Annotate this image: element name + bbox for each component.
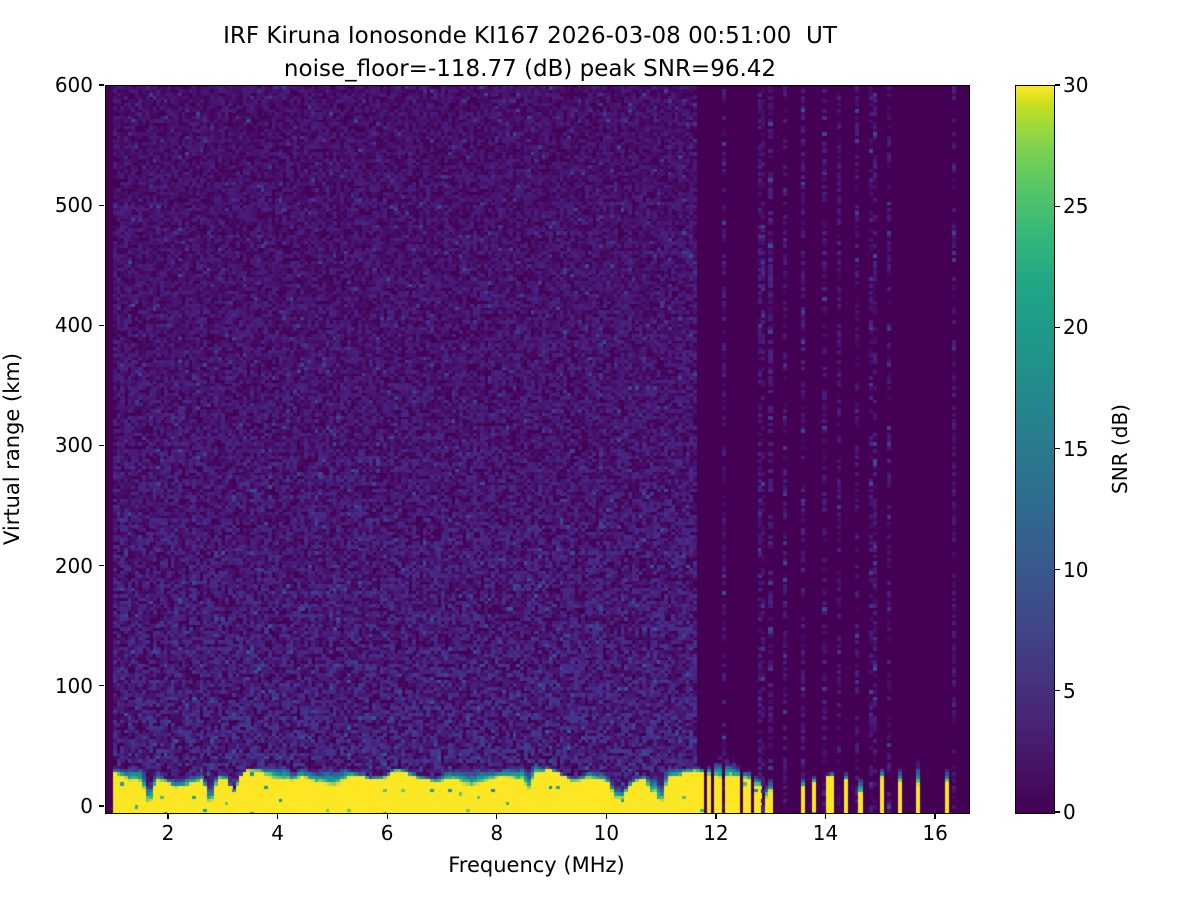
x-tick-label: 16: [922, 821, 947, 845]
y-tick-mark: [99, 805, 104, 806]
colorbar-tick-label: 0: [1063, 800, 1076, 824]
y-tick-mark: [99, 445, 104, 446]
y-tick-label: 500: [55, 193, 93, 217]
x-tick-mark: [715, 814, 716, 819]
x-tick-label: 6: [381, 821, 394, 845]
y-tick-mark: [99, 565, 104, 566]
colorbar-tick-mark: [1055, 327, 1060, 328]
y-axis-label: Virtual range (km): [0, 353, 24, 545]
colorbar-tick-mark: [1055, 448, 1060, 449]
y-tick-mark: [99, 325, 104, 326]
y-tick-label: 0: [80, 794, 93, 818]
figure-title: IRF Kiruna Ionosonde KI167 2026-03-08 00…: [0, 20, 1060, 85]
colorbar-tick-label: 20: [1063, 315, 1088, 339]
ionogram-figure: IRF Kiruna Ionosonde KI167 2026-03-08 00…: [0, 0, 1200, 900]
ionogram-heatmap: [106, 86, 969, 813]
x-tick-mark: [167, 814, 168, 819]
colorbar-tick-mark: [1055, 84, 1060, 85]
x-tick-mark: [606, 814, 607, 819]
colorbar-tick-mark: [1055, 206, 1060, 207]
title-line-1: IRF Kiruna Ionosonde KI167 2026-03-08 00…: [0, 20, 1060, 53]
x-tick-mark: [496, 814, 497, 819]
y-tick-label: 200: [55, 554, 93, 578]
colorbar-tick-label: 30: [1063, 73, 1088, 97]
x-tick-label: 2: [162, 821, 175, 845]
x-tick-mark: [277, 814, 278, 819]
y-tick-label: 100: [55, 674, 93, 698]
ionogram-plot-area: [105, 85, 970, 814]
y-tick-label: 600: [55, 73, 93, 97]
colorbar-label: SNR (dB): [1108, 404, 1132, 494]
y-tick-mark: [99, 685, 104, 686]
colorbar-tick-label: 15: [1063, 437, 1088, 461]
colorbar-tick-mark: [1055, 811, 1060, 812]
x-tick-mark: [934, 814, 935, 819]
x-tick-label: 14: [813, 821, 838, 845]
colorbar-tick-mark: [1055, 569, 1060, 570]
x-tick-label: 10: [594, 821, 619, 845]
colorbar-tick-label: 25: [1063, 194, 1088, 218]
x-tick-label: 4: [271, 821, 284, 845]
y-tick-mark: [99, 205, 104, 206]
x-axis-label: Frequency (MHz): [105, 853, 968, 877]
x-tick-mark: [825, 814, 826, 819]
colorbar-tick-mark: [1055, 690, 1060, 691]
x-tick-label: 8: [490, 821, 503, 845]
colorbar-tick-label: 10: [1063, 558, 1088, 582]
colorbar-gradient: [1015, 85, 1055, 814]
colorbar-tick-label: 5: [1063, 679, 1076, 703]
title-line-2: noise_floor=-118.77 (dB) peak SNR=96.42: [0, 53, 1060, 86]
y-tick-mark: [99, 84, 104, 85]
y-tick-label: 300: [55, 433, 93, 457]
x-tick-label: 12: [703, 821, 728, 845]
x-tick-mark: [387, 814, 388, 819]
y-tick-label: 400: [55, 313, 93, 337]
